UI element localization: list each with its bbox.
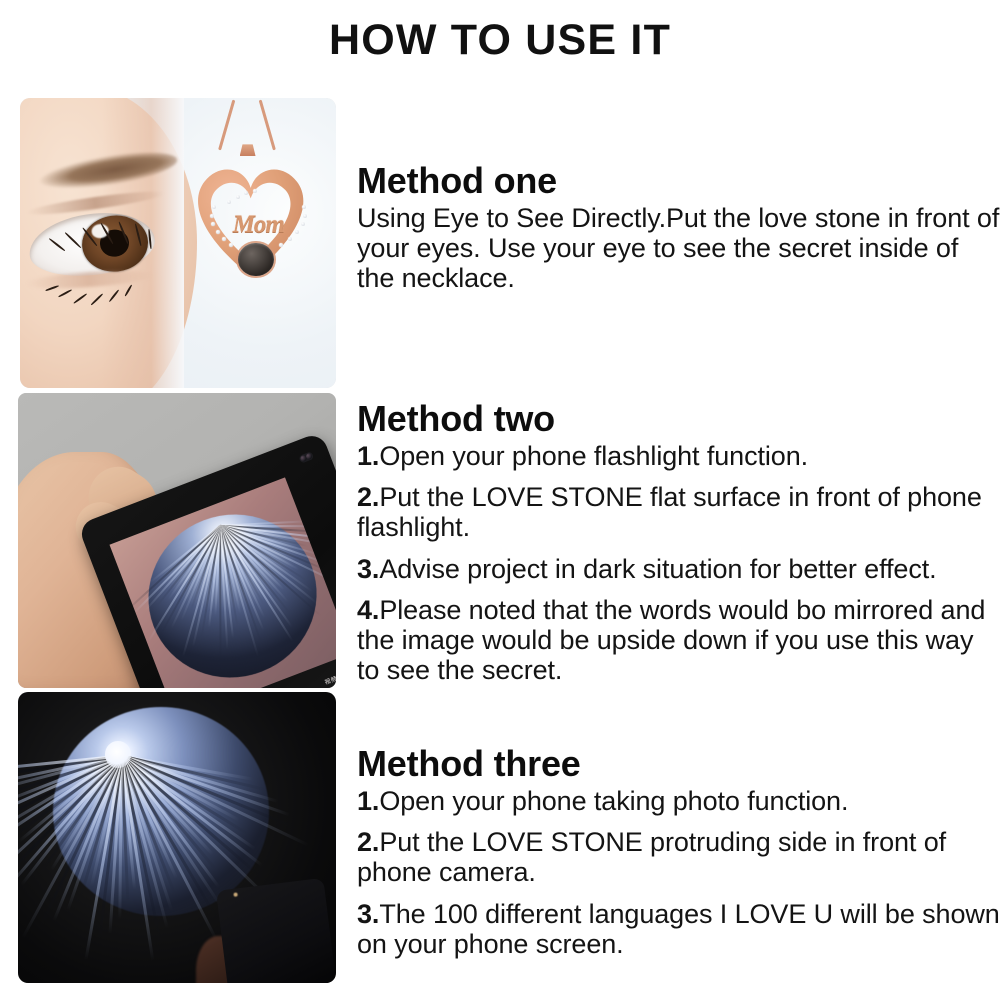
list-item: 2.Put the LOVE STONE flat surface in fro…: [357, 482, 1000, 542]
step-number: 4.: [357, 595, 379, 625]
method-one-body: Using Eye to See Directly.Put the love s…: [357, 203, 1000, 294]
method-one-block: Method one Using Eye to See Directly.Put…: [357, 162, 1000, 294]
method-three-heading: Method three: [357, 745, 1000, 784]
gemstone: [227, 200, 231, 204]
gemstone: [222, 237, 226, 241]
list-item: 3.The 100 different languages I LOVE U w…: [357, 899, 1000, 959]
list-item: 4.Please noted that the words would bo m…: [357, 595, 1000, 686]
photo-phone-method-two: 视频 拍照 人像 更多: [18, 393, 336, 688]
projection-hotspot: [105, 741, 130, 767]
method-one-heading: Method one: [357, 162, 1000, 201]
phone-silhouette: [216, 878, 336, 983]
method-three-block: Method three 1.Open your phone taking ph…: [357, 745, 1000, 959]
step-number: 1.: [357, 441, 379, 471]
camera-mode-video[interactable]: 视频: [324, 673, 336, 686]
list-item: 1.Open your phone flashlight function.: [357, 441, 1000, 471]
pendant-word: Mom: [212, 212, 305, 237]
step-number: 3.: [357, 899, 379, 929]
gemstone: [244, 191, 248, 195]
gemstone: [212, 205, 216, 209]
instructions-column: Method one Using Eye to See Directly.Put…: [357, 0, 1000, 1000]
step-text: Please noted that the words would bo mir…: [357, 595, 985, 685]
step-text: Open your phone flashlight function.: [379, 441, 808, 471]
list-item: 2.Put the LOVE STONE protruding side in …: [357, 827, 1000, 887]
step-text: Advise project in dark situation for bet…: [379, 554, 936, 584]
photo-projection-method-three: [18, 692, 336, 983]
step-text: The 100 different languages I LOVE U wil…: [357, 899, 1000, 959]
camera-lens: [299, 451, 315, 463]
step-number: 1.: [357, 786, 379, 816]
projection-stone: [238, 243, 274, 276]
step-number: 2.: [357, 482, 379, 512]
gemstone: [288, 237, 292, 241]
step-text: Put the LOVE STONE flat surface in front…: [357, 482, 982, 542]
method-two-block: Method two 1.Open your phone flashlight …: [357, 400, 1000, 686]
gemstone: [253, 189, 257, 193]
phone-edge-glint: [233, 893, 237, 897]
photo-eye-method-one: Mom: [20, 98, 336, 388]
step-text: Put the LOVE STONE protruding side in fr…: [357, 827, 946, 887]
heart-pendant: Mom: [191, 162, 324, 301]
how-to-use-page: HOW TO USE IT Mom: [0, 0, 1000, 1000]
step-number: 3.: [357, 554, 379, 584]
gemstone: [302, 205, 306, 209]
method-three-steps: 1.Open your phone taking photo function.…: [357, 786, 1000, 959]
phone-screen: [110, 477, 336, 688]
gemstone: [229, 243, 233, 247]
list-item: 3.Advise project in dark situation for b…: [357, 554, 1000, 584]
gemstone: [279, 243, 283, 247]
step-text: Open your phone taking photo function.: [379, 786, 848, 816]
step-number: 2.: [357, 827, 379, 857]
method-two-heading: Method two: [357, 400, 1000, 439]
gemstone: [236, 195, 240, 199]
method-two-steps: 1.Open your phone flashlight function.2.…: [357, 441, 1000, 686]
list-item: 1.Open your phone taking photo function.: [357, 786, 1000, 816]
